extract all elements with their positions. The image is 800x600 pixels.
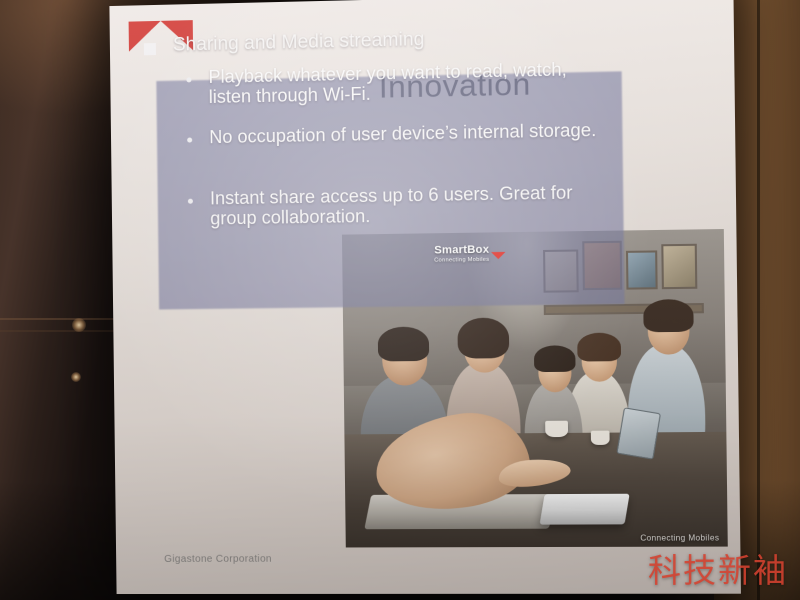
person-4-hair [577,333,621,362]
presentation-slide: Innovation Sharing and Media streaming P… [126,8,726,578]
round-bullet-icon-1 [186,77,191,82]
photo-corner-tagline: Connecting Mobiles [640,533,719,542]
wall-picture-frame-3 [626,250,658,289]
person-2-hair [457,318,509,359]
ceiling-downlight-1 [72,318,86,332]
watermark-text: 科技新袖 [648,544,788,592]
wall-trim-upper [0,318,126,320]
coffee-cup-2 [591,431,610,445]
smartbox-logo-name: SmartBox [424,243,500,256]
smartbox-device [540,494,630,525]
person-3-hair [534,345,576,372]
smartbox-logo-tagline: Connecting Mobiles [424,257,500,264]
coffee-cup-1 [545,421,568,437]
projection-screen: Innovation Sharing and Media streaming P… [109,0,741,594]
photo-scene: Innovation Sharing and Media streaming P… [0,0,800,600]
round-bullet-icon-2 [187,138,192,143]
person-5-hair [643,299,693,332]
level2-bullet-text-3: Instant share access up to 6 users. Grea… [210,182,609,229]
level1-bullet-text: Sharing and Media streaming [173,29,425,57]
wall-trim-lower [0,330,126,332]
wall-picture-frame-4 [661,244,697,289]
smartbox-logo: SmartBox Connecting Mobiles ◢ [424,243,500,272]
level2-bullet-text-1: Playback whatever you want to read, watc… [208,58,607,107]
person-1-hair [378,327,430,362]
tablet-device [616,407,661,459]
ceiling-downlight-2 [71,372,81,382]
slide-footer: Gigastone Corporation [164,554,272,565]
round-bullet-icon-3 [188,199,193,204]
square-bullet-icon [144,43,156,55]
